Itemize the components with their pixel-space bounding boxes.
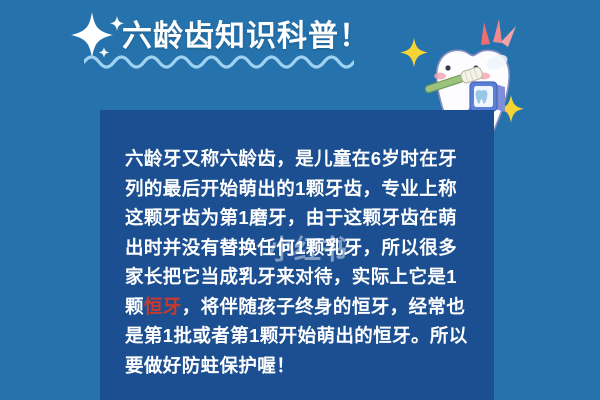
line-prefix: 颗 xyxy=(125,296,144,317)
highlight-term: 恒牙 xyxy=(144,296,182,317)
page-title: 六龄齿知识科普！ xyxy=(122,11,370,55)
sparkle-yellow-left-icon xyxy=(400,38,428,67)
tooth-book-icon xyxy=(470,82,505,112)
header: 六龄齿知识科普！ xyxy=(66,6,396,68)
text-line-highlighted: 颗恒牙，将伴随孩子终身的恒牙，经常也 xyxy=(125,292,475,322)
line-suffix: ，将伴随孩子终身的恒牙，经常也 xyxy=(182,296,466,317)
motion-lines-icon xyxy=(481,19,516,47)
poster-canvas: 六龄齿知识科普！ xyxy=(0,0,600,400)
content-panel: 六龄牙又称六龄齿，是儿童在6岁时在牙 列的最后开始萌出的1颗牙齿，专业上称 这颗… xyxy=(100,110,494,400)
text-line: 列的最后开始萌出的1颗牙齿，专业上称 xyxy=(125,174,475,204)
text-line: 家长把它当成乳牙来对待，实际上它是1 xyxy=(125,262,475,292)
text-line: 要做好防蛀保护喔！ xyxy=(125,351,475,381)
text-line: 六龄牙又称六龄齿，是儿童在6岁时在牙 xyxy=(125,144,475,174)
text-line: 出时并没有替换任何1颗乳牙，所以很多 xyxy=(125,233,475,263)
text-line: 这颗牙齿为第1磨牙，由于这颗牙齿在萌 xyxy=(125,203,475,233)
text-line: 是第1批或者第1颗开始萌出的恒牙。所以 xyxy=(125,321,475,351)
wavy-underline xyxy=(84,51,354,69)
article-body: 六龄牙又称六龄齿，是儿童在6岁时在牙 列的最后开始萌出的1颗牙齿，专业上称 这颗… xyxy=(125,144,475,380)
